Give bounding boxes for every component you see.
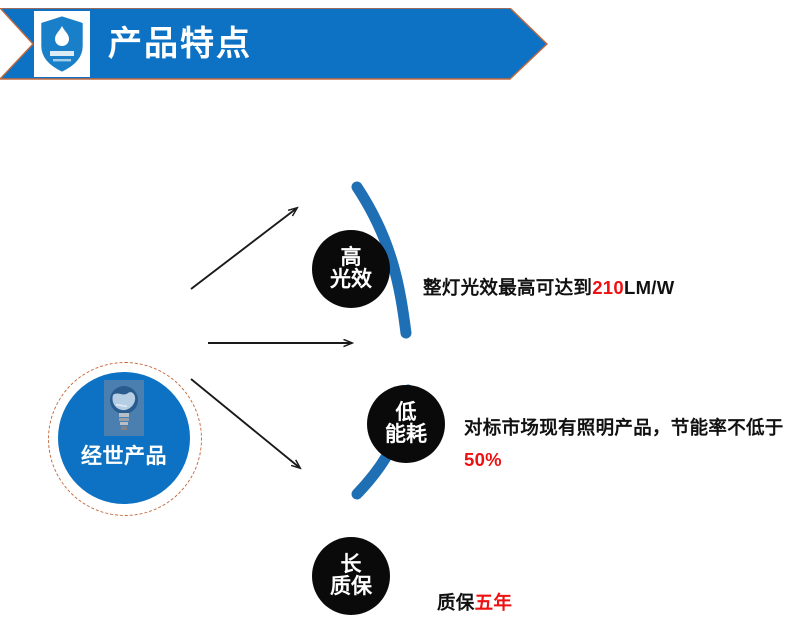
shield-icon (37, 13, 87, 75)
efficacy-description-pre: 整灯光效最高可达到 (423, 277, 592, 298)
arrow-to-high-efficacy (191, 208, 297, 289)
energy-description: 对标市场现有照明产品，节能率不低于50% (464, 412, 794, 477)
product-features-diagram: 经世产品 高 光效 低 能耗 长 质保 整灯光效最高可达到210LM/W 对标市… (0, 90, 800, 549)
efficacy-description: 整灯光效最高可达到210LM/W (423, 272, 783, 304)
node-long-warranty-line1: 长 (341, 554, 362, 576)
efficacy-description-highlight: 210 (592, 277, 624, 298)
header-banner: 产品特点 (0, 8, 548, 80)
warranty-description: 质保五年 (437, 587, 737, 619)
page-title: 产品特点 (108, 27, 252, 61)
shield-flame-logo-icon (34, 11, 90, 77)
node-high-efficacy[interactable]: 高 光效 (312, 230, 390, 308)
node-low-consumption-line1: 低 (396, 402, 417, 424)
node-low-consumption[interactable]: 低 能耗 (367, 385, 445, 463)
energy-description-pre: 对标市场现有照明产品，节能率不低于 (464, 417, 784, 438)
node-high-efficacy-line1: 高 (341, 247, 362, 269)
node-low-consumption-line2: 能耗 (385, 424, 427, 446)
energy-description-highlight: 50% (464, 449, 502, 470)
efficacy-description-post: LM/W (624, 277, 675, 298)
hub-node-product[interactable]: 经世产品 (58, 372, 190, 504)
warranty-description-highlight: 五年 (475, 592, 513, 613)
slide-canvas: 产品特点 (0, 0, 800, 549)
globe-lightbulb-icon (104, 380, 144, 436)
hub-label: 经世产品 (81, 440, 167, 470)
warranty-description-pre: 质保 (437, 592, 475, 613)
arrow-to-long-warranty (191, 379, 300, 468)
node-high-efficacy-line2: 光效 (330, 269, 372, 291)
node-long-warranty-line2: 质保 (330, 576, 372, 598)
